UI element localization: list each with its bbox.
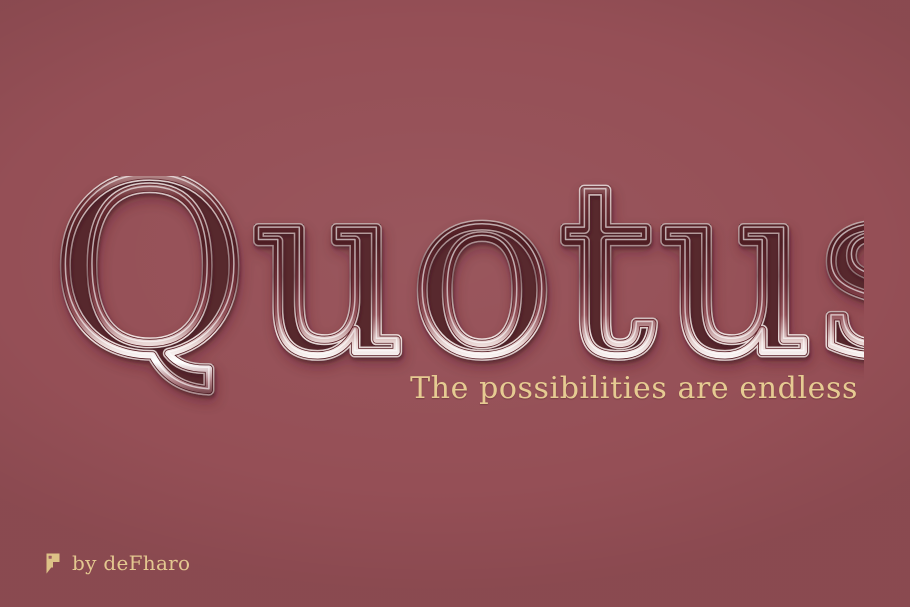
poster-canvas: Quotus Quotus Quotus Quotus Quotus The p… <box>0 0 910 607</box>
tagline: The possibilities are endless <box>0 371 858 406</box>
credit-text: by deFharo <box>72 553 190 573</box>
credit-block: by deFharo <box>42 549 190 577</box>
bird-logo-icon <box>42 552 63 575</box>
